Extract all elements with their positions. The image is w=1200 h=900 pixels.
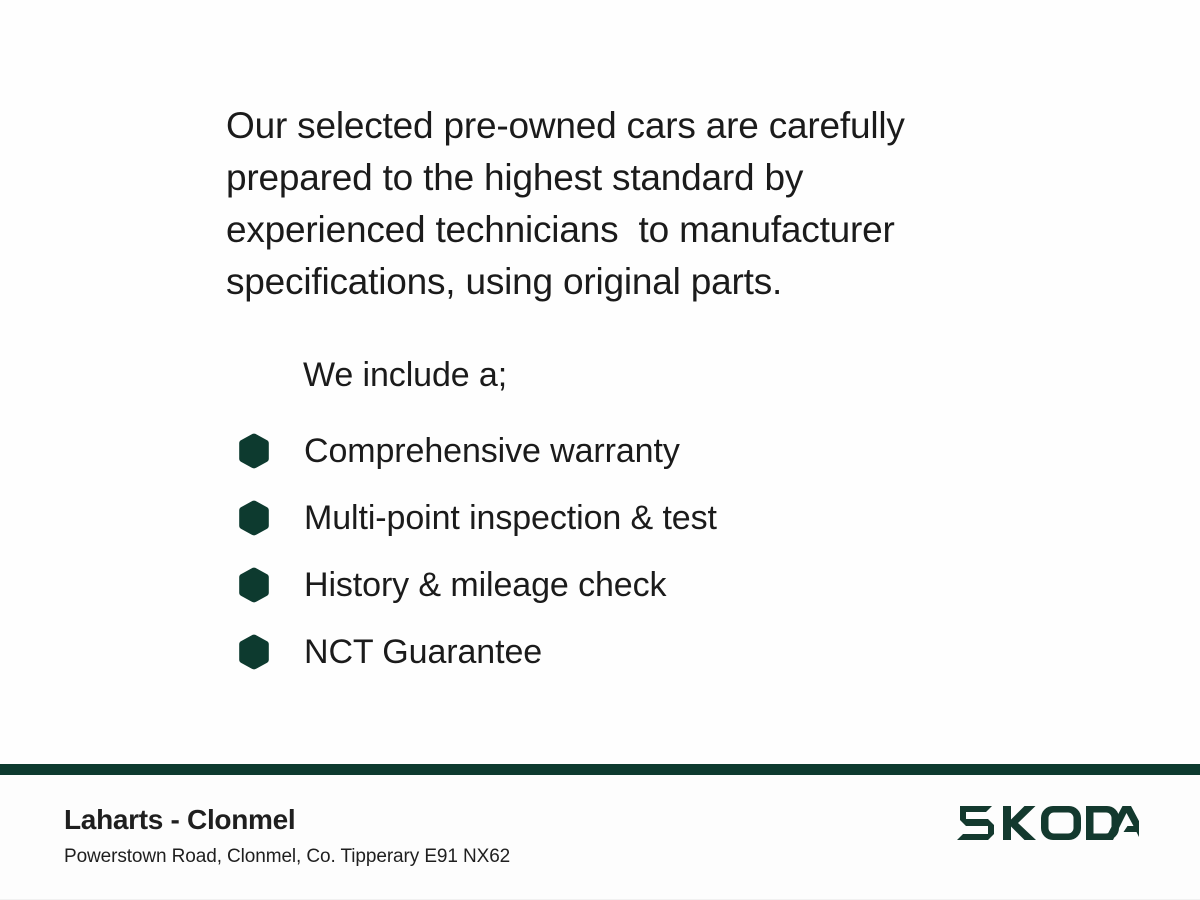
promo-slide: Our selected pre-owned cars are carefull… — [0, 0, 1200, 900]
intro-line-2: prepared to the highest standard by — [226, 152, 1016, 204]
intro-line-4: specifications, using original parts. — [226, 256, 1016, 308]
dealer-address: Powerstown Road, Clonmel, Co. Tipperary … — [64, 845, 510, 869]
list-item: History & mileage check — [236, 551, 996, 618]
hexagon-bullet-icon — [236, 634, 272, 670]
footer: Laharts - Clonmel Powerstown Road, Clonm… — [0, 775, 1200, 900]
accent-divider-bar — [0, 764, 1200, 775]
include-lead-text: We include a; — [303, 353, 507, 397]
hexagon-bullet-icon — [236, 500, 272, 536]
hexagon-bullet-icon — [236, 433, 272, 469]
benefits-list: Comprehensive warranty Multi-point inspe… — [236, 417, 996, 685]
hexagon-bullet-icon — [236, 567, 272, 603]
list-item-label: NCT Guarantee — [304, 632, 542, 672]
list-item: Multi-point inspection & test — [236, 484, 996, 551]
skoda-wordmark-logo — [957, 803, 1139, 843]
list-item: Comprehensive warranty — [236, 417, 996, 484]
intro-line-3: experienced technicians to manufacturer — [226, 204, 1016, 256]
list-item-label: History & mileage check — [304, 565, 666, 605]
list-item-label: Multi-point inspection & test — [304, 498, 717, 538]
dealer-name: Laharts - Clonmel — [64, 803, 295, 837]
intro-line-1: Our selected pre-owned cars are carefull… — [226, 100, 1016, 152]
list-item-label: Comprehensive warranty — [304, 431, 680, 471]
intro-paragraph: Our selected pre-owned cars are carefull… — [226, 100, 1016, 308]
list-item: NCT Guarantee — [236, 618, 996, 685]
